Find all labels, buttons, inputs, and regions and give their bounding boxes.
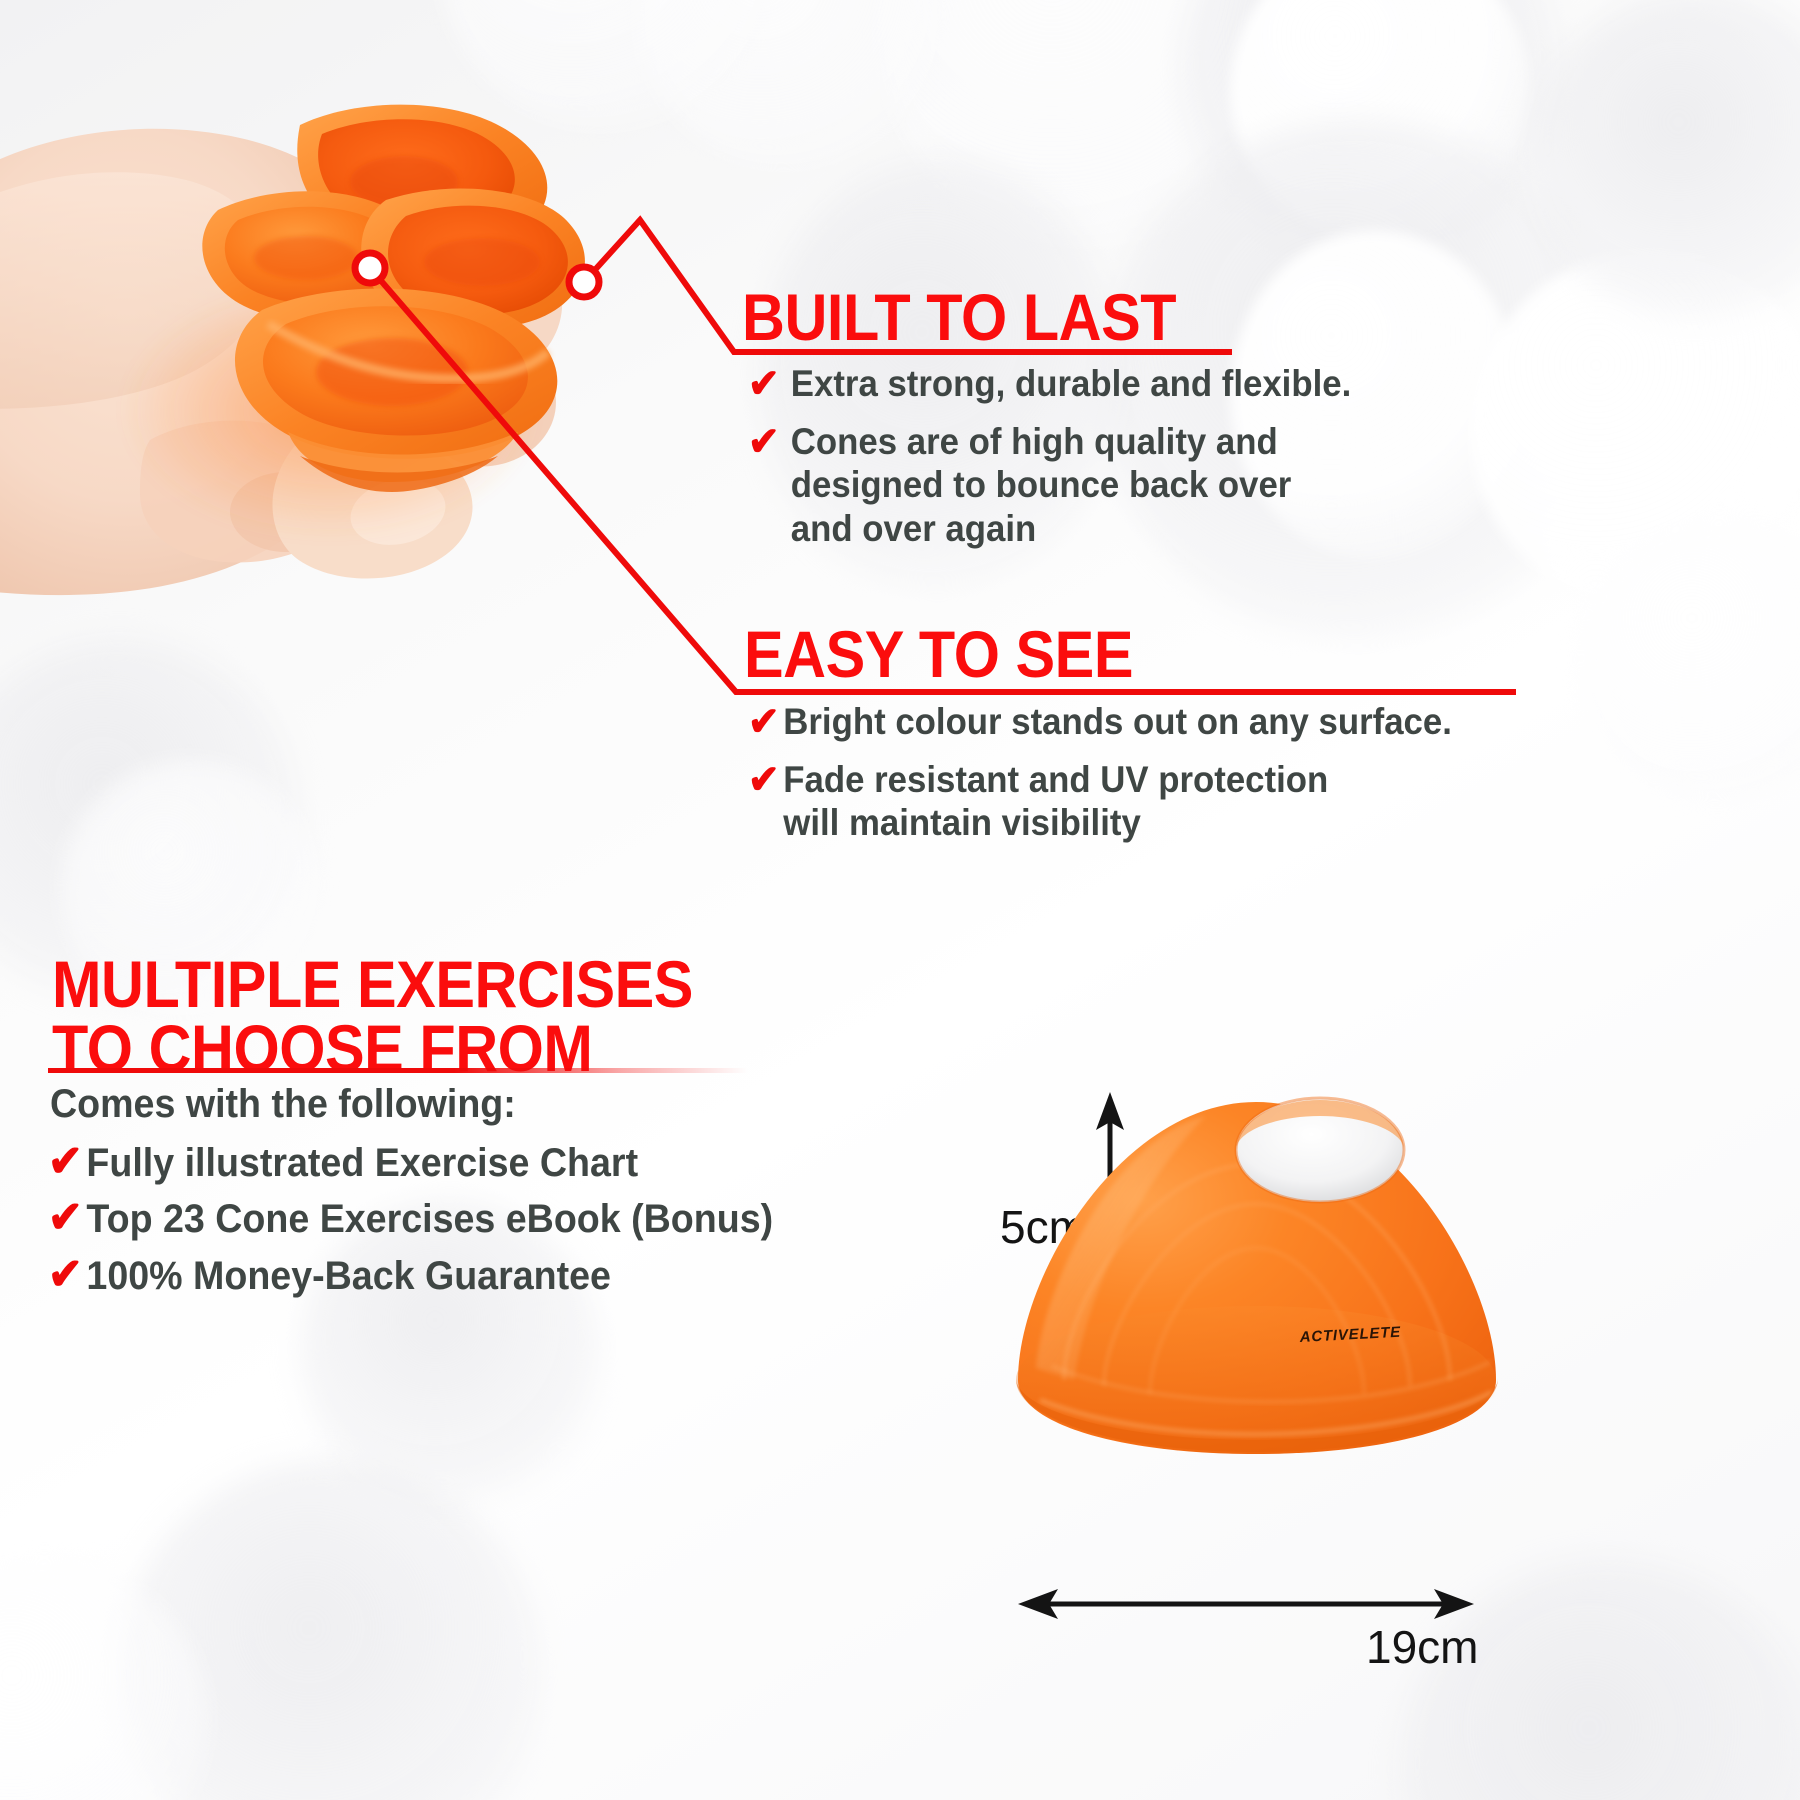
bullet-text: Fully illustrated Exercise Chart [86, 1140, 638, 1186]
check-icon: ✔ [748, 422, 780, 462]
list-item: ✔ Cones are of high quality and designed… [748, 420, 1444, 551]
bullet-text: Cones are of high quality and designed t… [791, 420, 1292, 551]
bullet-text: Top 23 Cone Exercises eBook (Bonus) [86, 1196, 773, 1242]
list-item: ✔ Bright colour stands out on any surfac… [748, 700, 1519, 744]
heading-rule-multiple-exercises [48, 1068, 748, 1073]
heading-rule-easy-to-see [736, 689, 1266, 694]
product-cone-photo: ACTIVELETE [1000, 1080, 1520, 1500]
infographic-canvas: BUILT TO LAST ✔ Extra strong, durable an… [0, 0, 1800, 1800]
check-icon: ✔ [748, 702, 780, 742]
heading-rule-built-to-last [734, 349, 1234, 354]
list-item: ✔ Fade resistant and UV protection will … [748, 758, 1519, 845]
bullet-text: Bright colour stands out on any surface. [783, 700, 1452, 744]
heading-easy-to-see: EASY TO SEE [744, 622, 1133, 686]
bullet-text: 100% Money-Back Guarantee [86, 1253, 611, 1299]
hand-squeezing-cones-photo [0, 60, 680, 630]
comes-with-intro: Comes with the following: [50, 1082, 516, 1127]
bullet-list-easy-to-see: ✔ Bright colour stands out on any surfac… [748, 700, 1519, 845]
list-item: ✔ Extra strong, durable and flexible. [748, 362, 1444, 406]
heading-built-to-last: BUILT TO LAST [742, 285, 1176, 349]
width-dimension-label: 19cm [1366, 1620, 1478, 1674]
bullet-list-multiple-exercises: ✔ Fully illustrated Exercise Chart ✔ Top… [48, 1140, 819, 1299]
check-icon: ✔ [748, 760, 780, 800]
check-icon: ✔ [48, 1196, 83, 1240]
list-item: ✔ 100% Money-Back Guarantee [48, 1253, 819, 1299]
check-icon: ✔ [48, 1253, 83, 1297]
check-icon: ✔ [748, 364, 780, 404]
list-item: ✔ Fully illustrated Exercise Chart [48, 1140, 819, 1186]
list-item: ✔ Top 23 Cone Exercises eBook (Bonus) [48, 1196, 819, 1242]
bullet-text: Extra strong, durable and flexible. [791, 362, 1351, 406]
bullet-list-built-to-last: ✔ Extra strong, durable and flexible. ✔ … [748, 362, 1444, 551]
check-icon: ✔ [48, 1140, 83, 1184]
heading-multiple-exercises: MULTIPLE EXERCISES TO CHOOSE FROM [52, 952, 693, 1080]
bullet-text: Fade resistant and UV protection will ma… [783, 758, 1328, 845]
